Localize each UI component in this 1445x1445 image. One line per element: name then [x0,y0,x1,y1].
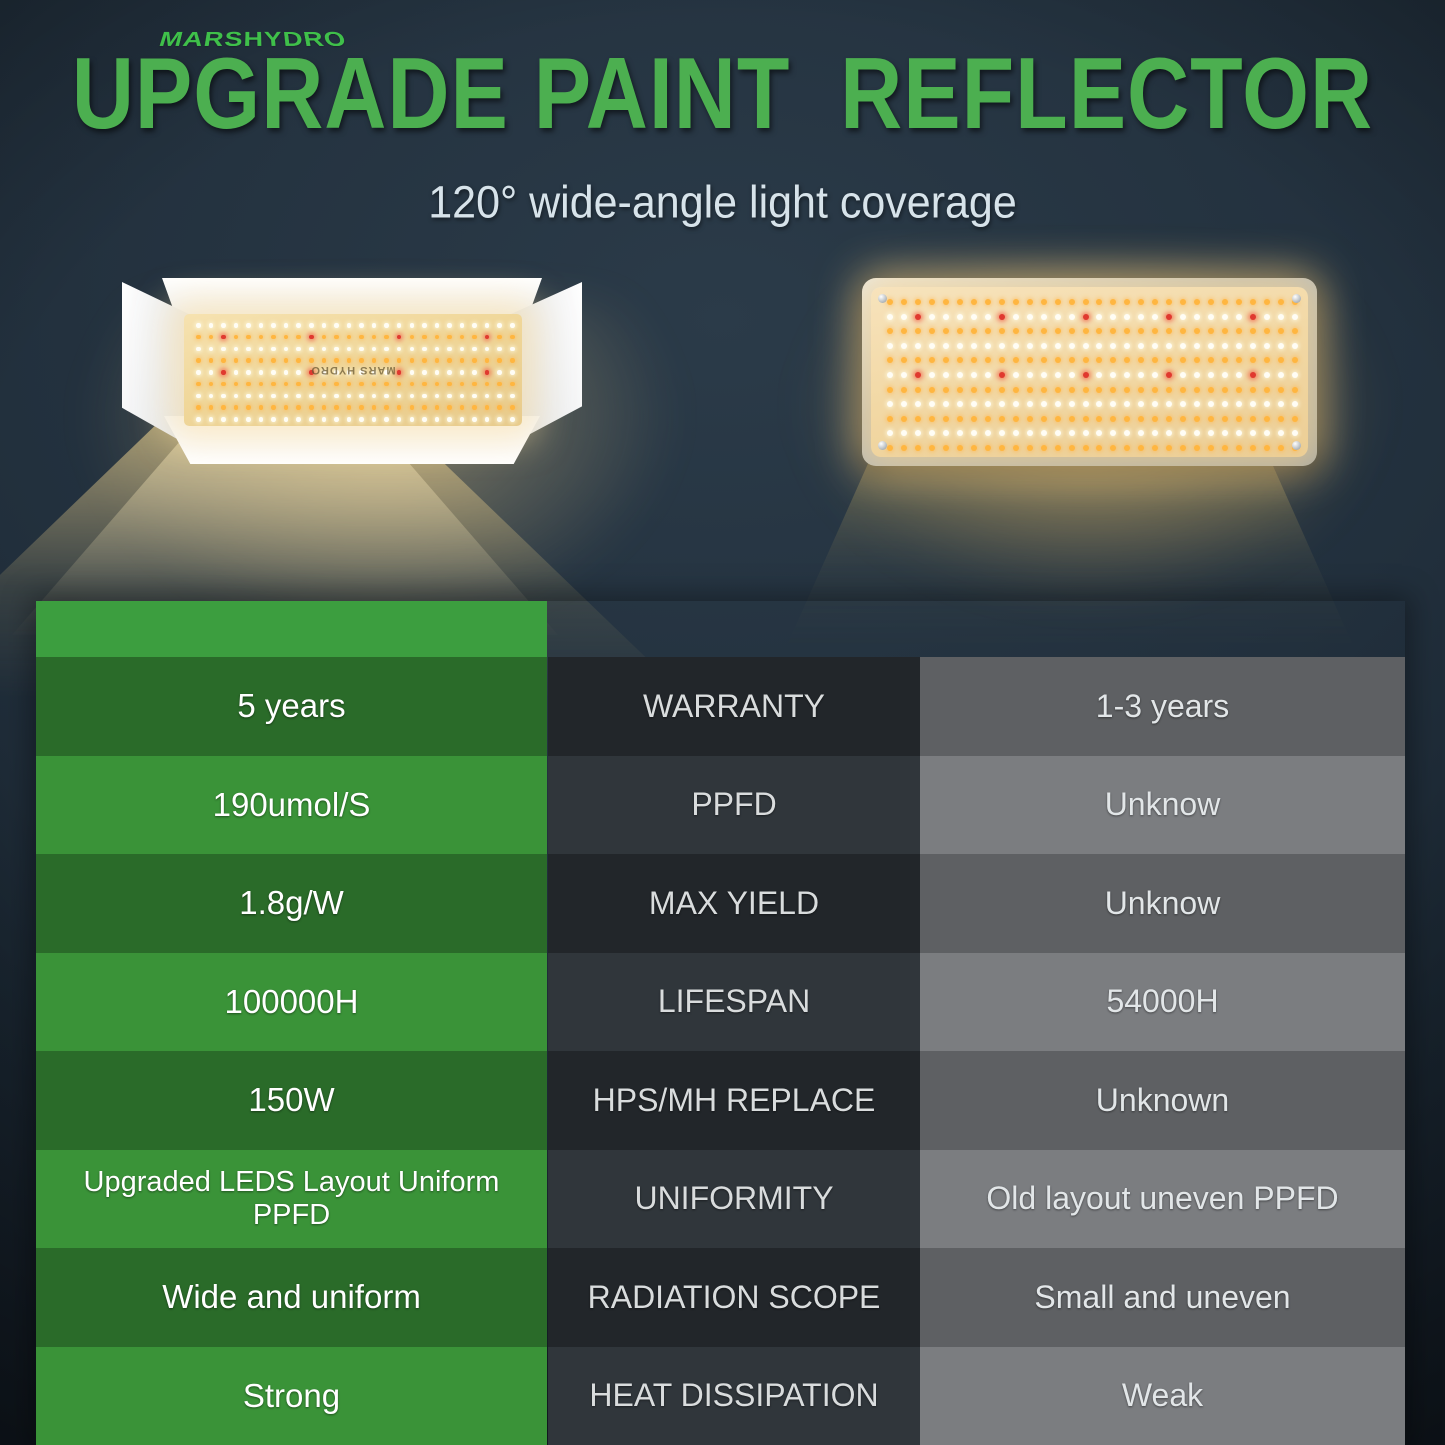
table-cell-our-value: 150W [36,1051,547,1150]
table-cell-feature-label: LIFESPAN [548,953,920,1052]
screw-icon [1292,441,1301,450]
table-cell-feature-label: HPS/MH REPLACE [548,1051,920,1150]
table-cell-other-value: Weak [920,1347,1405,1445]
column-header-our-product [36,601,547,657]
table-cell-other-value: Old layout uneven PPFD [920,1150,1405,1249]
screw-icon [878,294,887,303]
table-cell-our-value: 5 years [36,657,547,756]
table-cell-our-value: 100000H [36,953,547,1052]
page-subtitle: 120° wide-angle light coverage [0,177,1445,229]
table-cell-feature-label: MAX YIELD [548,854,920,953]
table-cell-feature-label: RADIATION SCOPE [548,1248,920,1347]
column-header-feature [548,601,920,657]
table-cell-our-value: Upgraded LEDS Layout Uniform PPFD [36,1150,547,1249]
table-cell-other-value: 54000H [920,953,1405,1052]
header: UPGRADE PAINT REFLECTOR 120° wide-angle … [0,0,1445,220]
table-cell-our-value: 190umol/S [36,756,547,855]
led-grid-right [871,287,1308,457]
table-cell-feature-label: HEAT DISSIPATION [548,1347,920,1445]
table-cell-feature-label: PPFD [548,756,920,855]
led-panel-right [871,287,1308,457]
product-image-old-light [862,278,1317,466]
page-title: UPGRADE PAINT REFLECTOR [0,36,1445,153]
table-cell-our-value: Wide and uniform [36,1248,547,1347]
led-panel-left: MARS HYDRO [184,314,522,426]
table-cell-other-value: Unknown [920,1051,1405,1150]
comparison-table: 5 years190umol/S1.8g/W100000H150WUpgrade… [36,601,1405,1445]
screw-icon [878,441,887,450]
column-header-other-product [920,601,1405,657]
column-other-product: 1-3 yearsUnknowUnknow54000HUnknownOld la… [920,601,1405,1445]
product-image-upgraded-light: MARS HYDRO [122,272,582,472]
table-cell-other-value: Unknow [920,756,1405,855]
table-cell-feature-label: WARRANTY [548,657,920,756]
column-our-product: 5 years190umol/S1.8g/W100000H150WUpgrade… [36,601,547,1445]
screw-icon [1292,294,1301,303]
table-cell-our-value: 1.8g/W [36,854,547,953]
table-cell-our-value: Strong [36,1347,547,1445]
column-feature-labels: WARRANTYPPFDMAX YIELDLIFESPANHPS/MH REPL… [548,601,920,1445]
table-cell-other-value: 1-3 years [920,657,1405,756]
panel-print-label: MARS HYDRO [310,364,395,376]
table-cell-other-value: Small and uneven [920,1248,1405,1347]
table-cell-feature-label: UNIFORMITY [548,1150,920,1249]
table-cell-other-value: Unknow [920,854,1405,953]
